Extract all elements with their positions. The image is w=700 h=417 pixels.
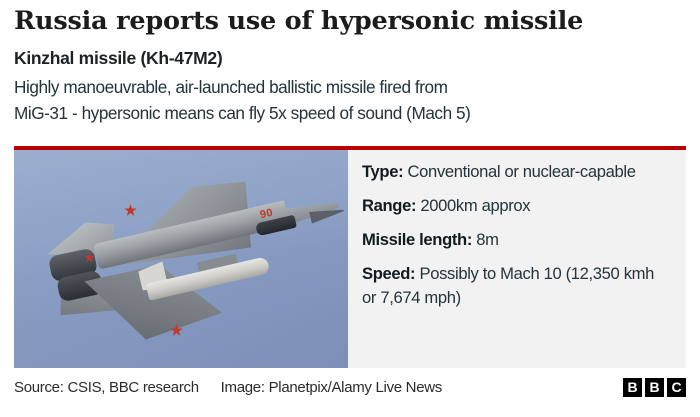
bbc-logo-block: C (667, 378, 686, 397)
description-line-1: Highly manoeuvrable, air-launched ballis… (14, 74, 686, 100)
footer: Source: CSIS, BBC research Image: Planet… (14, 378, 686, 402)
spec-row: Type: Conventional or nuclear-capable (362, 160, 672, 184)
media-block: 90 Type: Conventional or nuclear-capable… (14, 146, 686, 368)
spec-label: Range: (362, 196, 416, 215)
spec-label: Speed: (362, 264, 415, 283)
red-star-icon (124, 204, 137, 217)
spec-label: Type: (362, 162, 403, 181)
credits: Source: CSIS, BBC research Image: Planet… (14, 378, 442, 398)
spec-value: Conventional or nuclear-capable (408, 162, 636, 181)
infographic-card: Russia reports use of hypersonic missile… (0, 0, 700, 417)
description-line-2: MiG-31 - hypersonic means can fly 5x spe… (14, 100, 686, 126)
bbc-logo-block: B (623, 378, 642, 397)
spec-label: Missile length: (362, 230, 472, 249)
image-credit: Image: Planetpix/Alamy Live News (221, 379, 442, 396)
page-title: Russia reports use of hypersonic missile (14, 6, 686, 37)
subtitle: Kinzhal missile (Kh-47M2) (14, 47, 686, 69)
spec-value: 8m (476, 230, 498, 249)
spec-row: Range: 2000km approx (362, 194, 672, 218)
spec-row: Missile length: 8m (362, 228, 672, 252)
description: Highly manoeuvrable, air-launched ballis… (14, 74, 686, 126)
spec-value: 2000km approx (420, 196, 530, 215)
bbc-logo-block: B (645, 378, 664, 397)
jet-illustration: 90 (28, 178, 334, 348)
bbc-logo: B B C (623, 378, 686, 397)
missile-photo: 90 (14, 150, 348, 368)
specs-panel: Type: Conventional or nuclear-capable Ra… (348, 150, 686, 368)
spec-row: Speed: Possibly to Mach 10 (12,350 kmh o… (362, 262, 672, 310)
header: Russia reports use of hypersonic missile… (14, 6, 686, 126)
source-credit: Source: CSIS, BBC research (14, 379, 199, 396)
